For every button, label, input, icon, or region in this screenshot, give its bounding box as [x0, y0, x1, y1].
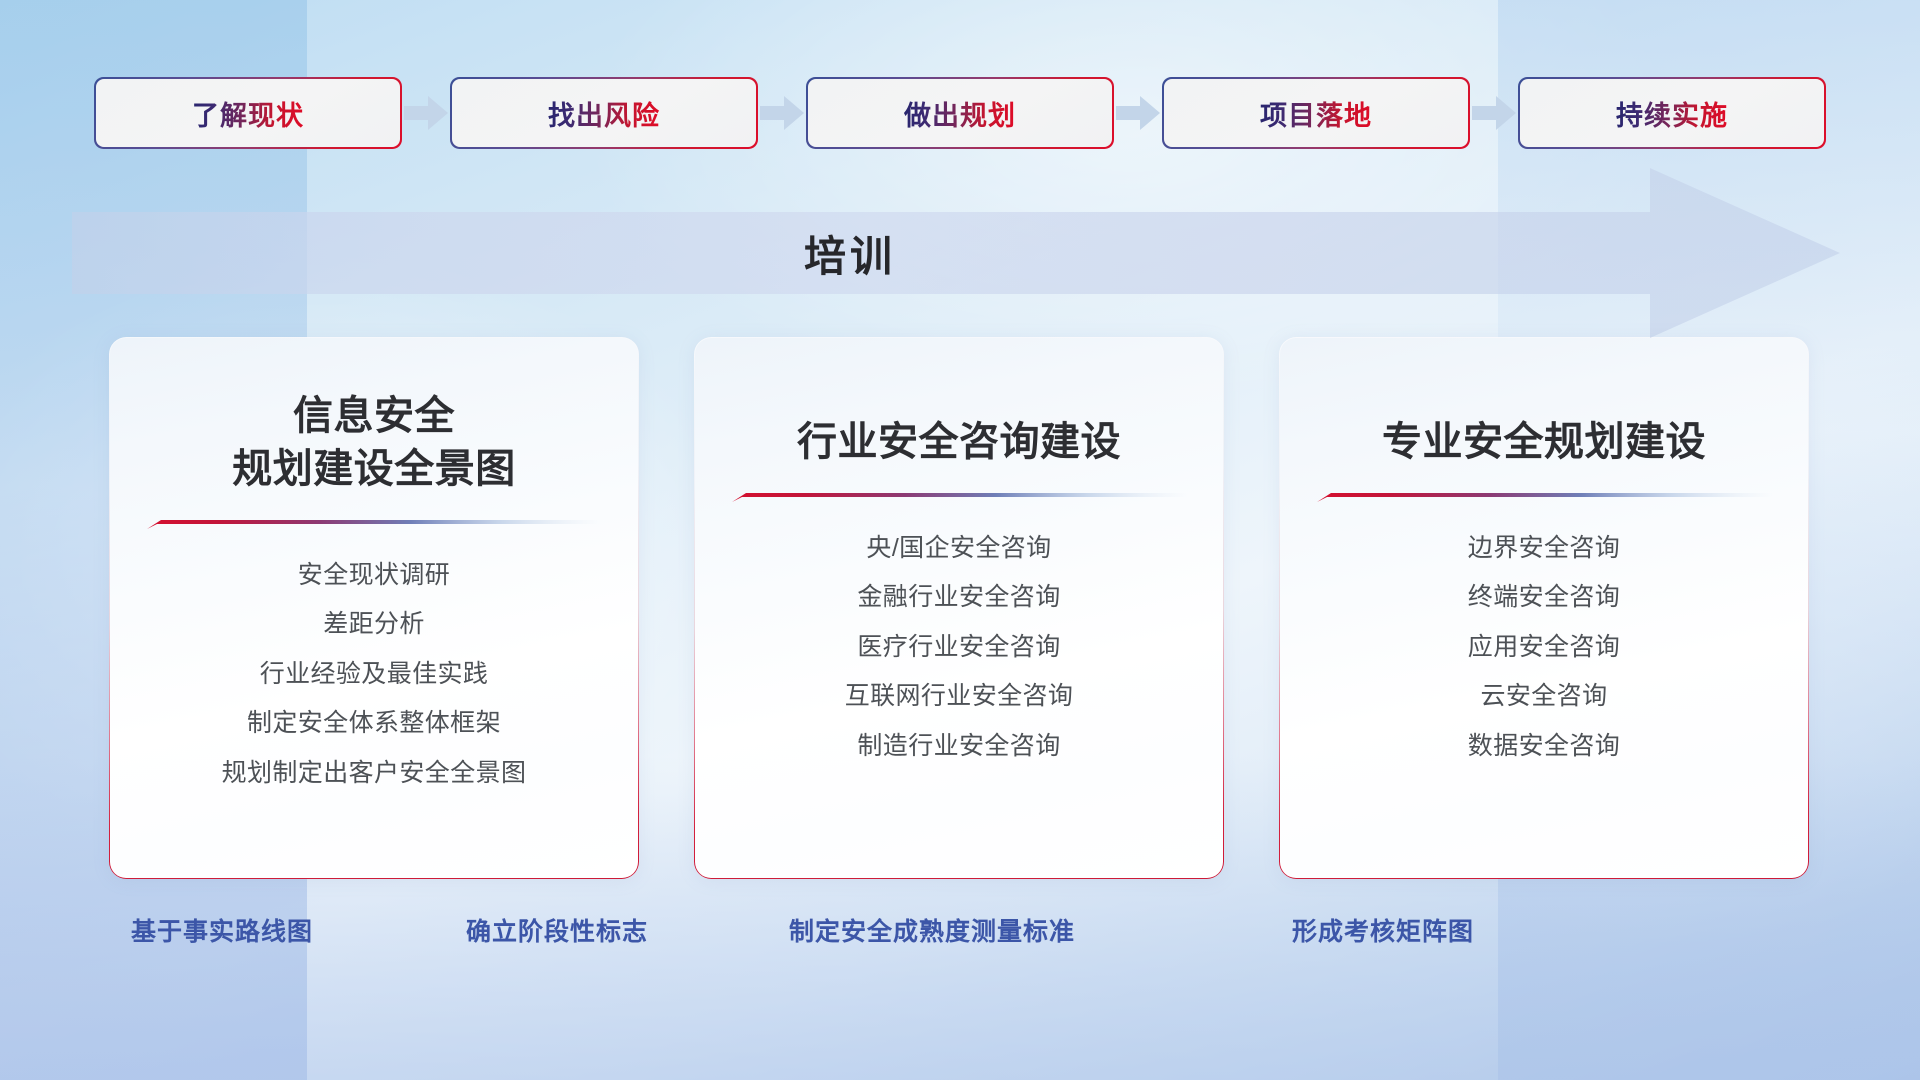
list-item: 应用安全咨询	[1468, 629, 1620, 667]
process-step-label: 项目落地	[1260, 94, 1372, 133]
process-step-2[interactable]: 找出风险	[452, 79, 756, 147]
card-title: 专业安全规划建设	[1382, 416, 1706, 469]
list-item: 行业经验及最佳实践	[260, 656, 489, 694]
card-title: 行业安全咨询建设	[797, 416, 1121, 469]
list-item: 终端安全咨询	[1468, 579, 1620, 617]
card-information-security[interactable]: 信息安全 规划建设全景图	[110, 338, 638, 878]
process-step-1[interactable]: 了解现状	[96, 79, 400, 147]
list-item: 制造行业安全咨询	[857, 728, 1060, 766]
process-step-4[interactable]: 项目落地	[1164, 79, 1468, 147]
card-divider	[732, 493, 1187, 502]
process-step-label: 了解现状	[192, 94, 304, 133]
list-item: 央/国企安全咨询	[866, 530, 1051, 568]
process-flow: 了解现状 找出风险 做出规划 项目落地	[0, 79, 1920, 147]
footer-label: 形成考核矩阵图	[1292, 912, 1474, 948]
arrow-right-icon	[756, 79, 808, 147]
slide-content: 了解现状 找出风险 做出规划 项目落地	[0, 0, 1920, 1080]
list-item: 云安全咨询	[1480, 678, 1607, 716]
list-item: 规划制定出客户安全全景图	[222, 755, 527, 793]
arrow-right-icon	[1112, 79, 1164, 147]
card-title: 信息安全 规划建设全景图	[232, 390, 516, 496]
list-item: 制定安全体系整体框架	[247, 705, 501, 743]
card-item-list: 央/国企安全咨询 金融行业安全咨询 医疗行业安全咨询 互联网行业安全咨询 制造行…	[729, 530, 1189, 766]
card-group: 信息安全 规划建设全景图	[110, 338, 1810, 878]
footer-labels: 基于事实路线图 确立阶段性标志 制定安全成熟度测量标准 形成考核矩阵图	[0, 912, 1920, 962]
list-item: 安全现状调研	[298, 557, 450, 595]
footer-label: 基于事实路线图	[131, 912, 313, 948]
list-item: 金融行业安全咨询	[857, 579, 1060, 617]
card-divider	[147, 520, 602, 529]
arrow-right-icon	[400, 79, 452, 147]
arrow-right-icon	[1468, 79, 1520, 147]
card-divider	[1317, 493, 1772, 502]
card-item-list: 边界安全咨询 终端安全咨询 应用安全咨询 云安全咨询 数据安全咨询	[1314, 530, 1774, 766]
training-banner: 培训	[0, 168, 1920, 338]
list-item: 边界安全咨询	[1468, 530, 1620, 568]
process-step-3[interactable]: 做出规划	[808, 79, 1112, 147]
list-item: 医疗行业安全咨询	[857, 629, 1060, 667]
list-item: 数据安全咨询	[1468, 728, 1620, 766]
card-industry-security-consulting[interactable]: 行业安全咨询建设	[695, 338, 1223, 878]
footer-label: 制定安全成熟度测量标准	[789, 912, 1075, 948]
process-step-label: 持续实施	[1616, 94, 1728, 133]
process-step-label: 做出规划	[904, 94, 1016, 133]
list-item: 互联网行业安全咨询	[845, 678, 1074, 716]
process-step-label: 找出风险	[548, 94, 660, 133]
banner-title: 培训	[0, 168, 1700, 338]
footer-label: 确立阶段性标志	[466, 912, 648, 948]
process-step-5[interactable]: 持续实施	[1520, 79, 1824, 147]
card-item-list: 安全现状调研 差距分析 行业经验及最佳实践 制定安全体系整体框架 规划制定出客户…	[144, 557, 604, 793]
list-item: 差距分析	[323, 606, 425, 644]
card-professional-security-planning[interactable]: 专业安全规划建设	[1280, 338, 1808, 878]
